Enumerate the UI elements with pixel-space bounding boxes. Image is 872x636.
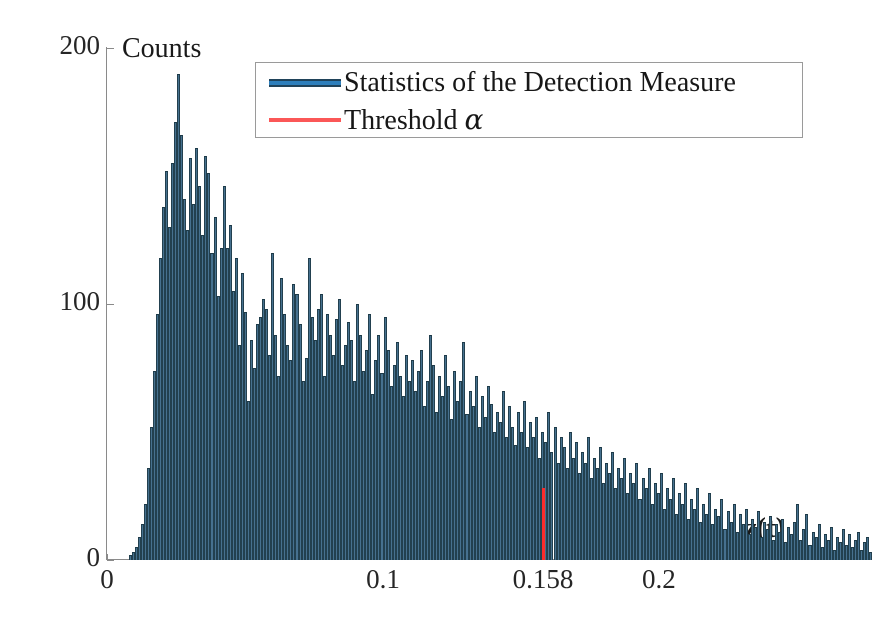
x-tick-label: 0.2	[579, 564, 739, 595]
legend-item-label: Statistics of the Detection Measure	[344, 69, 736, 97]
legend-swatch-threshold	[269, 118, 341, 122]
alpha-symbol: α	[465, 103, 484, 136]
y-tick-label: 200	[10, 30, 100, 61]
legend-item: Threshold α	[256, 101, 483, 139]
y-tick-mark	[107, 560, 114, 561]
legend-swatch-series	[269, 79, 341, 87]
x-tick-label: 0	[27, 564, 187, 595]
legend-item: Statistics of the Detection Measure	[256, 64, 736, 102]
histogram-figure: 0100200 00.10.1580.2 Counts z(t) Statist…	[0, 0, 872, 636]
legend-item-label: Threshold α	[344, 106, 483, 135]
threshold-line	[542, 488, 545, 560]
y-tick-label: 100	[10, 286, 100, 317]
x-tick-label: 0.1	[303, 564, 463, 595]
legend: Statistics of the Detection MeasureThres…	[255, 62, 803, 138]
